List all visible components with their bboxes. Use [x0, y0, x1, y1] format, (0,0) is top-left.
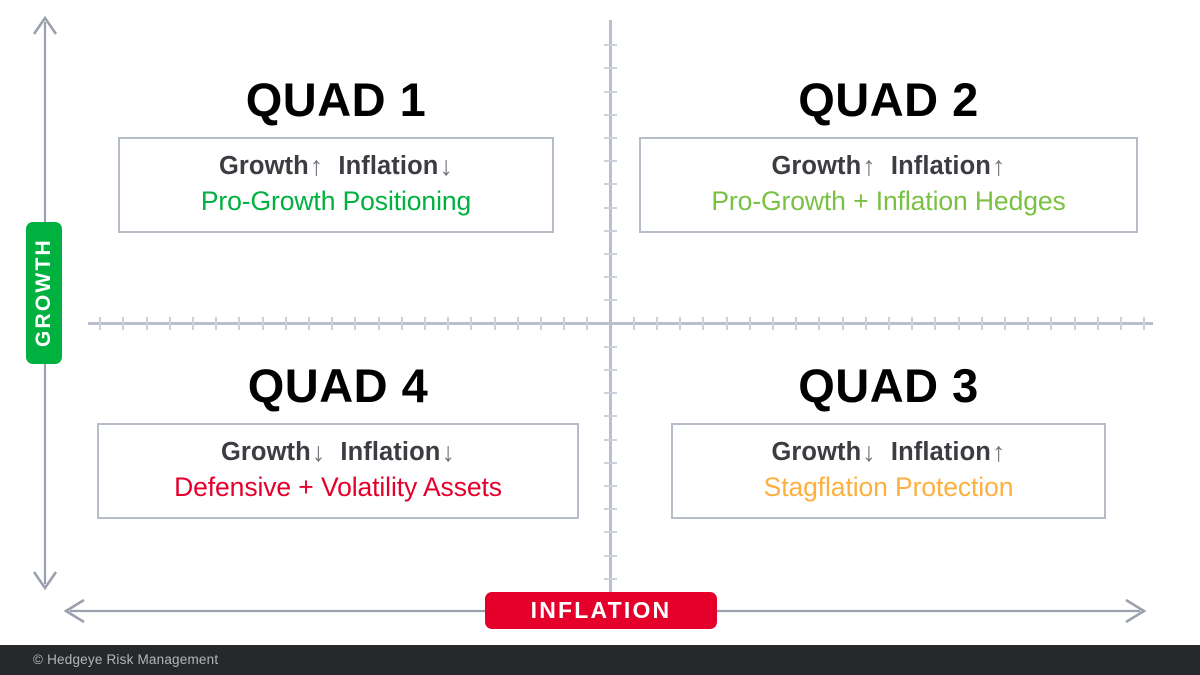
arrow-down-icon: ↓ [441, 437, 455, 467]
axis-tick [633, 317, 635, 330]
quad-4-box: Growth↓Inflation↓ Defensive + Volatility… [97, 423, 579, 519]
axis-tick [1004, 317, 1006, 330]
axis-tick [604, 508, 617, 510]
quad-4-metrics: Growth↓Inflation↓ [117, 436, 559, 468]
axis-tick [604, 415, 617, 417]
quadrant-quad-2: QUAD 2 Growth↑Inflation↑ Pro-Growth + In… [639, 76, 1138, 233]
axis-tick [378, 317, 380, 330]
axis-tick [1050, 317, 1052, 330]
quad-1-growth-label: Growth [219, 152, 309, 180]
axis-tick [192, 317, 194, 330]
axis-tick [604, 160, 617, 162]
arrow-up-icon: ↑ [862, 151, 876, 181]
axis-tick [656, 317, 658, 330]
axis-tick [604, 276, 617, 278]
axis-tick [563, 317, 565, 330]
quad-2-box: Growth↑Inflation↑ Pro-Growth + Inflation… [639, 137, 1138, 233]
axis-tick [604, 253, 617, 255]
axis-tick [424, 317, 426, 330]
axis-tick [604, 183, 617, 185]
axis-tick [1120, 317, 1122, 330]
attribution-text: © Hedgeye Risk Management [33, 652, 218, 667]
arrow-up-icon: ↑ [992, 437, 1006, 467]
axis-tick [99, 317, 101, 330]
inflation-axis-label: INFLATION [485, 592, 717, 629]
quad-3-metrics: Growth↓Inflation↑ [691, 436, 1086, 468]
axis-tick [262, 317, 264, 330]
axis-tick [726, 317, 728, 330]
vertical-axis [609, 20, 612, 625]
quad-3-title: QUAD 3 [671, 362, 1106, 409]
axis-tick [1143, 317, 1145, 330]
arrow-down-icon: ↓ [439, 151, 453, 181]
arrow-down-icon: ↓ [862, 437, 876, 467]
axis-tick [308, 317, 310, 330]
axis-tick [604, 299, 617, 301]
axis-tick [540, 317, 542, 330]
axis-tick [679, 317, 681, 330]
quad-3-inflation-label: Inflation [891, 438, 991, 466]
axis-tick [604, 207, 617, 209]
quad-4-inflation-label: Inflation [340, 438, 440, 466]
quad-1-metrics: Growth↑Inflation↓ [138, 150, 534, 182]
axis-tick [604, 230, 617, 232]
quad-2-inflation-label: Inflation [891, 152, 991, 180]
axis-tick [604, 114, 617, 116]
axis-tick [604, 346, 617, 348]
quad-3-box: Growth↓Inflation↑ Stagflation Protection [671, 423, 1106, 519]
axis-tick [604, 578, 617, 580]
axis-tick [934, 317, 936, 330]
axis-tick [772, 317, 774, 330]
axis-tick [122, 317, 124, 330]
axis-tick [354, 317, 356, 330]
axis-tick [604, 462, 617, 464]
quad-1-inflation-label: Inflation [338, 152, 438, 180]
axis-tick [447, 317, 449, 330]
axis-tick [981, 317, 983, 330]
axis-tick [470, 317, 472, 330]
axis-tick [238, 317, 240, 330]
axis-tick [604, 369, 617, 371]
axis-tick [285, 317, 287, 330]
axis-tick [604, 67, 617, 69]
quadrant-quad-1: QUAD 1 Growth↑Inflation↓ Pro-Growth Posi… [118, 76, 554, 233]
arrow-up-icon: ↑ [310, 151, 324, 181]
axis-tick [865, 317, 867, 330]
axis-tick [749, 317, 751, 330]
quad-1-box: Growth↑Inflation↓ Pro-Growth Positioning [118, 137, 554, 233]
growth-axis-label: GROWTH [26, 222, 62, 364]
arrow-down-icon: ↓ [312, 437, 326, 467]
axis-tick [604, 439, 617, 441]
quad-1-subtitle: Pro-Growth Positioning [138, 186, 534, 218]
axis-tick [604, 91, 617, 93]
quadrant-quad-3: QUAD 3 Growth↓Inflation↑ Stagflation Pro… [671, 362, 1106, 519]
axis-tick [586, 317, 588, 330]
axis-tick [604, 392, 617, 394]
axis-tick [604, 485, 617, 487]
axis-tick [842, 317, 844, 330]
axis-tick [215, 317, 217, 330]
axis-tick [1097, 317, 1099, 330]
quad-2-growth-label: Growth [771, 152, 861, 180]
axis-tick [702, 317, 704, 330]
axis-tick [604, 555, 617, 557]
axis-tick [169, 317, 171, 330]
axis-tick [1027, 317, 1029, 330]
quad-3-subtitle: Stagflation Protection [691, 472, 1086, 504]
quad-4-subtitle: Defensive + Volatility Assets [117, 472, 559, 504]
axis-tick [958, 317, 960, 330]
quad-4-growth-label: Growth [221, 438, 311, 466]
horizontal-axis [88, 322, 1153, 325]
arrow-up-icon: ↑ [992, 151, 1006, 181]
axis-tick [517, 317, 519, 330]
axis-tick [1074, 317, 1076, 330]
quad-4-title: QUAD 4 [97, 362, 579, 409]
axis-tick [146, 317, 148, 330]
axis-tick [494, 317, 496, 330]
axis-tick [818, 317, 820, 330]
quadrant-quad-4: QUAD 4 Growth↓Inflation↓ Defensive + Vol… [97, 362, 579, 519]
quad-3-growth-label: Growth [771, 438, 861, 466]
axis-tick [795, 317, 797, 330]
quad-2-metrics: Growth↑Inflation↑ [659, 150, 1118, 182]
quad-2-title: QUAD 2 [639, 76, 1138, 123]
axis-tick [401, 317, 403, 330]
quad-chart-canvas: GROWTH INFLATION QUAD 1 Growth↑Inflation… [0, 0, 1200, 675]
quad-1-title: QUAD 1 [118, 76, 554, 123]
axis-tick [911, 317, 913, 330]
axis-tick [888, 317, 890, 330]
axis-tick [331, 317, 333, 330]
axis-tick [604, 44, 617, 46]
quad-2-subtitle: Pro-Growth + Inflation Hedges [659, 186, 1118, 218]
axis-tick [604, 137, 617, 139]
axis-tick [604, 531, 617, 533]
